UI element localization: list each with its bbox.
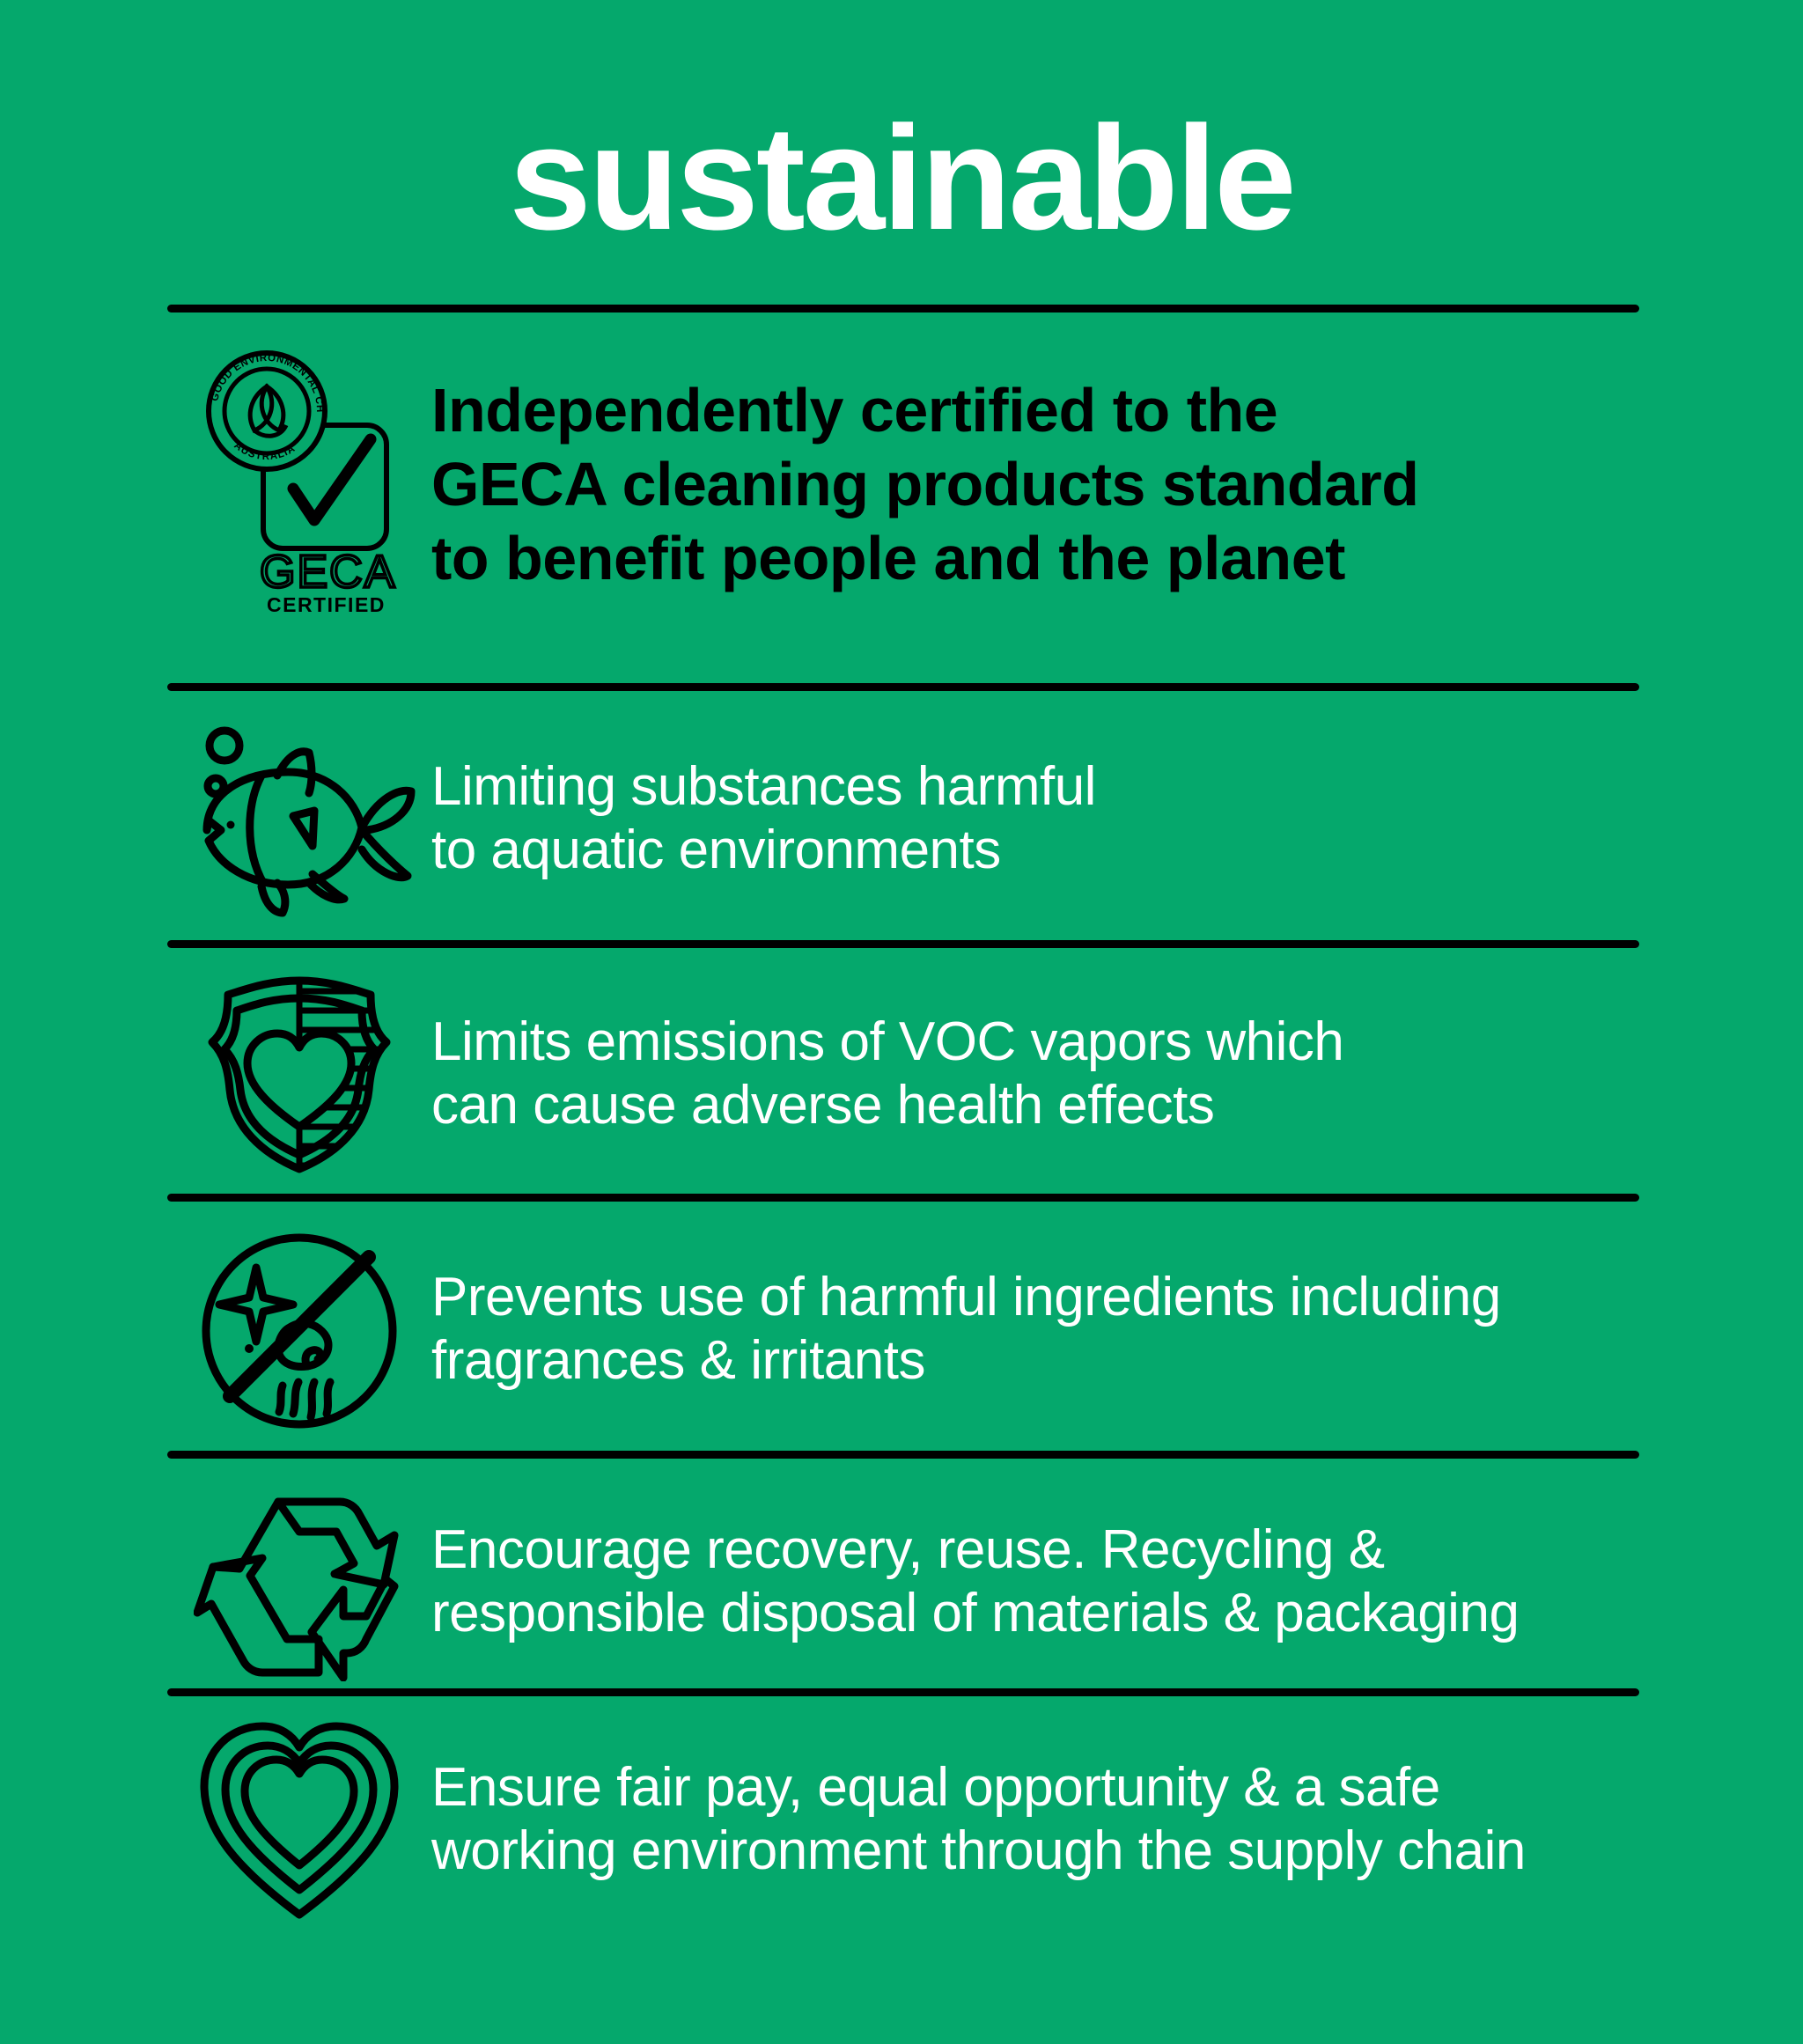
row-recycling: Encourage recovery, reuse. Recycling & r… <box>167 1472 1639 1692</box>
divider-2 <box>167 683 1639 691</box>
row-voc: Limits emissions of VOC vapors which can… <box>167 961 1639 1187</box>
row-line: to benefit people and the planet <box>431 521 1639 595</box>
no-fragrance-icon <box>167 1224 431 1435</box>
row-fair-pay: Ensure fair pay, equal opportunity & a s… <box>167 1709 1639 1930</box>
row-line: GECA cleaning products standard <box>431 447 1639 521</box>
divider-3 <box>167 940 1639 948</box>
row-aquatic: Limiting substances harmful to aquatic e… <box>167 704 1639 933</box>
row-text-fragrance-free: Prevents use of harmful ingredients incl… <box>431 1266 1639 1393</box>
row-line: Ensure fair pay, equal opportunity & a s… <box>431 1756 1639 1820</box>
divider-4 <box>167 1194 1639 1202</box>
row-text-aquatic: Limiting substances harmful to aquatic e… <box>431 755 1639 882</box>
geca-certified-logo: GOOD ENVIRONMENTAL CHOICE AUSTRALIA GECA… <box>167 348 431 621</box>
recycling-icon <box>167 1482 431 1681</box>
page-title-wrap: sustainable <box>0 104 1803 252</box>
row-line: working environment through the supply c… <box>431 1820 1639 1883</box>
row-line: Limits emissions of VOC vapors which <box>431 1011 1639 1074</box>
sustainability-infographic: sustainable GOOD E <box>0 0 1803 2044</box>
row-fragrance-free: Prevents use of harmful ingredients incl… <box>167 1215 1639 1444</box>
row-line: Encourage recovery, reuse. Recycling & <box>431 1518 1639 1582</box>
row-line: Independently certified to the <box>431 373 1639 447</box>
row-line: responsible disposal of materials & pack… <box>431 1582 1639 1645</box>
divider-5 <box>167 1451 1639 1459</box>
row-text-fair-pay: Ensure fair pay, equal opportunity & a s… <box>431 1756 1639 1883</box>
divider-6 <box>167 1688 1639 1696</box>
row-line: Limiting substances harmful <box>431 755 1639 819</box>
svg-text:GECA: GECA <box>260 547 396 598</box>
row-line: fragrances & irritants <box>431 1329 1639 1393</box>
divider-1 <box>167 305 1639 312</box>
concentric-hearts-icon <box>167 1717 431 1922</box>
row-text-recycling: Encourage recovery, reuse. Recycling & r… <box>431 1518 1639 1645</box>
row-geca-standard: GOOD ENVIRONMENTAL CHOICE AUSTRALIA GECA… <box>167 335 1639 634</box>
row-line: to aquatic environments <box>431 819 1639 882</box>
row-text-geca-standard: Independently certified to the GECA clea… <box>431 373 1639 595</box>
svg-text:CERTIFIED: CERTIFIED <box>267 593 386 616</box>
row-line: Prevents use of harmful ingredients incl… <box>431 1266 1639 1329</box>
row-line: can cause adverse health effects <box>431 1074 1639 1137</box>
fish-icon <box>167 717 431 920</box>
shield-heart-icon <box>167 972 431 1176</box>
row-text-voc: Limits emissions of VOC vapors which can… <box>431 1011 1639 1137</box>
page-title: sustainable <box>509 104 1293 252</box>
